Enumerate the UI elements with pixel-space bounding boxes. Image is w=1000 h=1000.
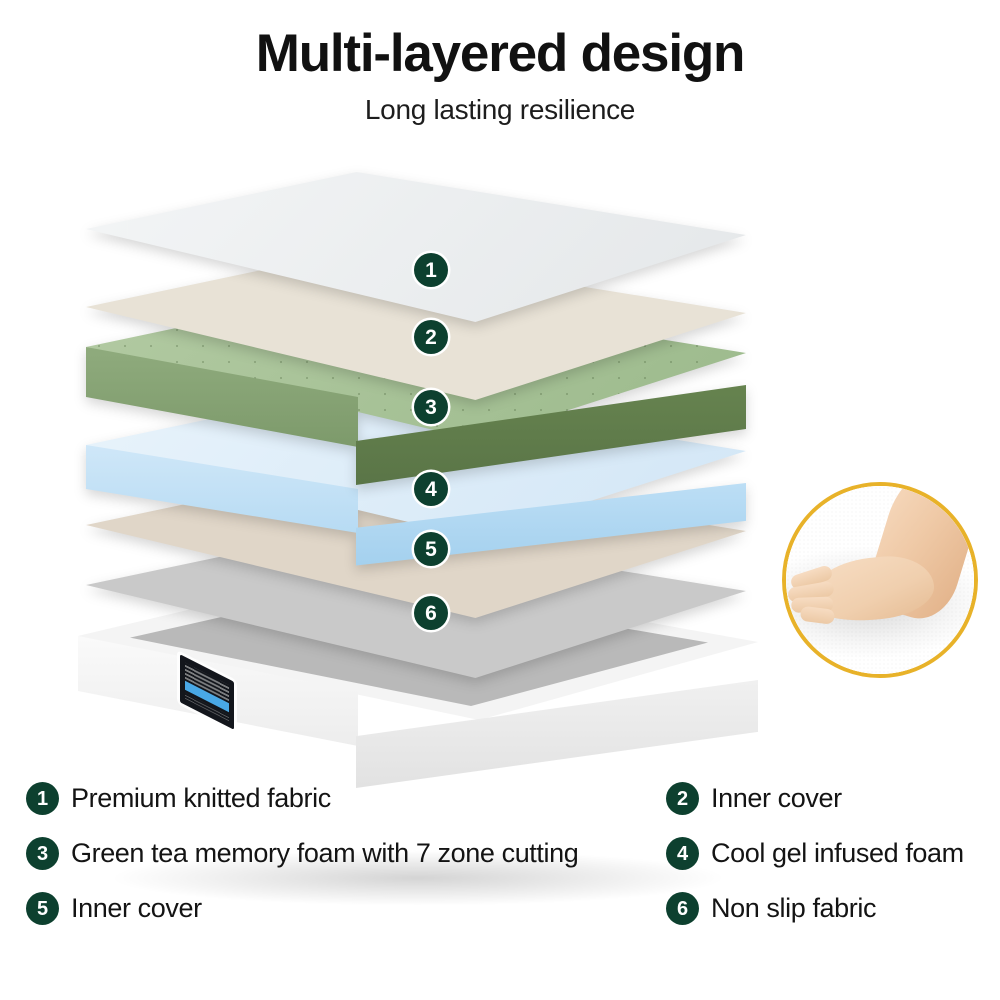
hand-pressing-foam-inset	[782, 482, 978, 678]
diagram-badge-6[interactable]: 6	[414, 596, 448, 630]
header: Multi-layered design Long lasting resili…	[0, 0, 1000, 126]
legend-badge-2: 2	[666, 782, 699, 815]
diagram-badge-4[interactable]: 4	[414, 472, 448, 506]
diagram-badge-2[interactable]: 2	[414, 320, 448, 354]
legend-label-2: Inner cover	[711, 783, 842, 814]
legend-label-4: Cool gel infused foam	[711, 838, 964, 869]
legend-badge-3: 3	[26, 837, 59, 870]
diagram-badge-1[interactable]: 1	[414, 253, 448, 287]
legend-badge-1: 1	[26, 782, 59, 815]
legend-badge-5: 5	[26, 892, 59, 925]
ground-shadow	[108, 850, 728, 906]
diagram-badge-3[interactable]: 3	[414, 390, 448, 424]
page-subtitle: Long lasting resilience	[0, 94, 1000, 126]
legend-item-1[interactable]: 1 Premium knitted fabric	[26, 782, 666, 815]
premium-knitted-fabric-top	[86, 172, 746, 322]
legend-label-1: Premium knitted fabric	[71, 783, 331, 814]
diagram-badge-5[interactable]: 5	[414, 532, 448, 566]
legend-item-2[interactable]: 2 Inner cover	[666, 782, 974, 815]
legend-label-6: Non slip fabric	[711, 893, 876, 924]
exploded-mattress-diagram: 1 2 3 4 5 6	[0, 150, 1000, 780]
layer-premium-knitted-fabric	[86, 172, 746, 322]
page-title: Multi-layered design	[0, 26, 1000, 82]
